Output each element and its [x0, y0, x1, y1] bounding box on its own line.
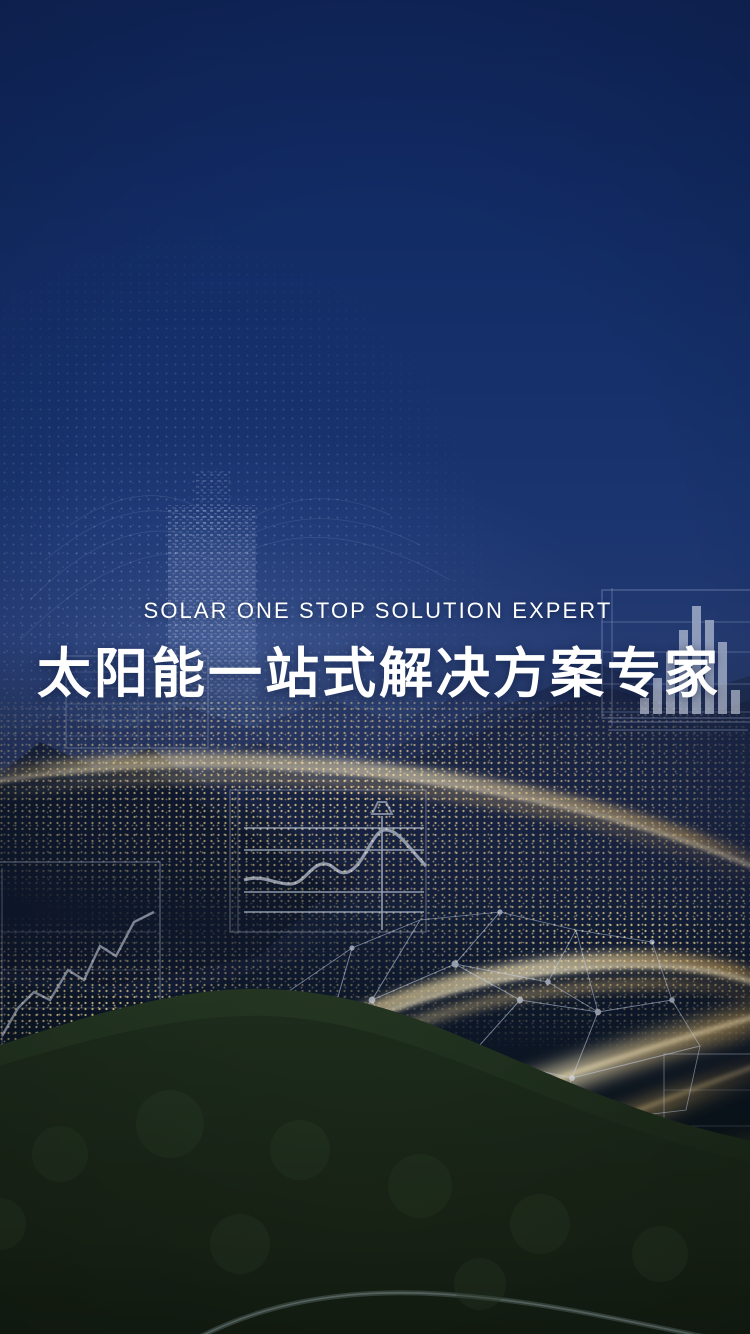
page-title: 太阳能一站式解决方案专家 [0, 644, 750, 704]
hero-banner: SOLAR ONE STOP SOLUTION EXPERT 太阳能一站式解决方… [0, 0, 750, 1334]
banner-eyebrow: SOLAR ONE STOP SOLUTION EXPERT [0, 600, 750, 622]
banner-copy: SOLAR ONE STOP SOLUTION EXPERT 太阳能一站式解决方… [0, 600, 750, 704]
foreground-hill [0, 924, 750, 1334]
line-chart-panel-center [222, 788, 432, 938]
